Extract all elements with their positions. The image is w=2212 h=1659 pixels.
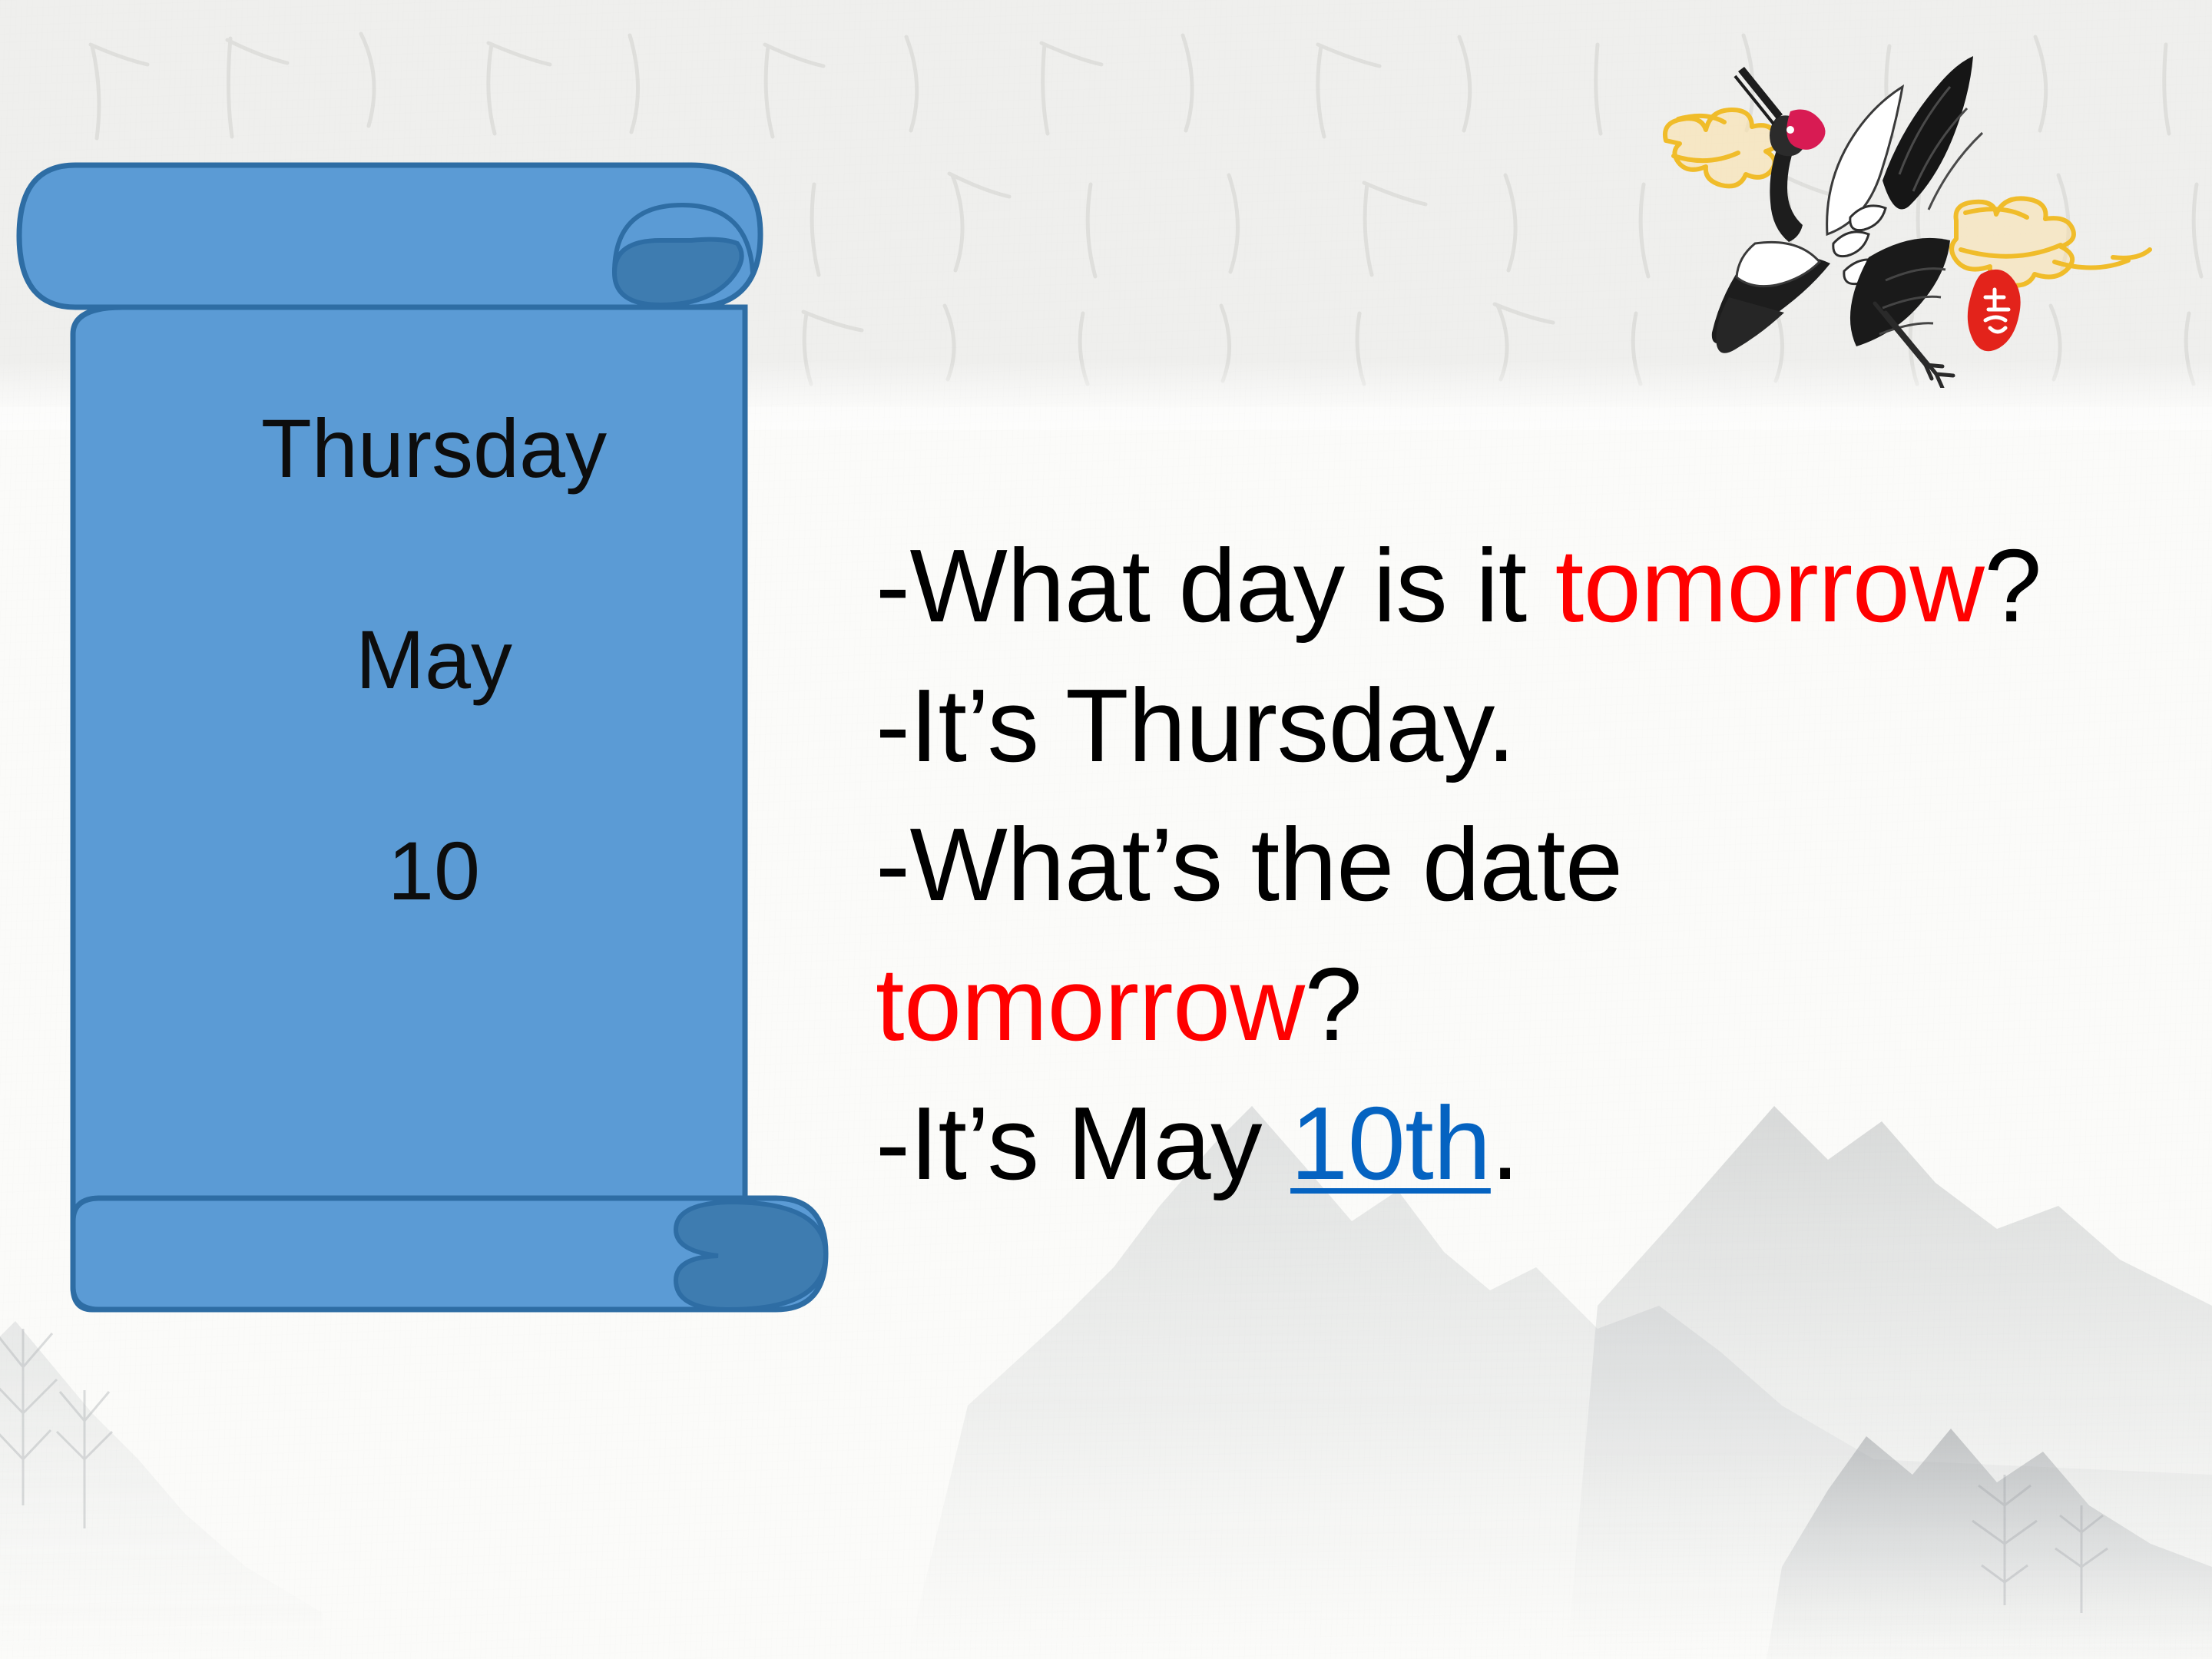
scroll-spacer-1 bbox=[123, 490, 745, 618]
slide-canvas: Thursday May 10 -What day is it tomorrow… bbox=[0, 0, 2212, 1659]
gold-cloud-icon bbox=[1665, 110, 1777, 186]
dialogue-line: -It’s May 10th. bbox=[876, 1074, 2181, 1214]
dialogue-text: ? bbox=[1305, 946, 1363, 1062]
scroll-spacer-2 bbox=[123, 701, 745, 829]
dialogue-line: -What’s the date bbox=[876, 795, 2181, 935]
red-crowned-crane-illustration bbox=[1655, 27, 2212, 388]
dialogue-text-block: -What day is it tomorrow?-It’s Thursday.… bbox=[876, 516, 2181, 1214]
highlight-word: tomorrow bbox=[876, 946, 1305, 1062]
date-ordinal-link[interactable]: 10th bbox=[1290, 1085, 1491, 1201]
scroll-date-number: 10 bbox=[123, 829, 745, 912]
dialogue-text: -It’s Thursday. bbox=[876, 667, 1515, 783]
scroll-bottom-roll bbox=[73, 1198, 826, 1310]
scroll-date-text: Thursday May 10 bbox=[123, 407, 745, 912]
dialogue-line: tomorrow? bbox=[876, 935, 2181, 1075]
dialogue-line: -What day is it tomorrow? bbox=[876, 516, 2181, 656]
highlight-word: tomorrow bbox=[1555, 528, 1985, 644]
scroll-month-label: May bbox=[123, 618, 745, 701]
dialogue-text: -It’s May bbox=[876, 1085, 1290, 1201]
crane-figure bbox=[1712, 56, 1982, 388]
scroll-day-label: Thursday bbox=[123, 407, 745, 490]
dialogue-text: -What’s the date bbox=[876, 806, 1623, 922]
dialogue-text: . bbox=[1491, 1085, 1519, 1201]
red-seal-stamp bbox=[1968, 270, 2021, 351]
dialogue-line: -It’s Thursday. bbox=[876, 656, 2181, 796]
dialogue-text: ? bbox=[1984, 528, 2041, 644]
scroll-top-roll bbox=[19, 165, 760, 307]
dialogue-text: -What day is it bbox=[876, 528, 1555, 644]
gold-cloud-icon-2 bbox=[1952, 198, 2150, 285]
